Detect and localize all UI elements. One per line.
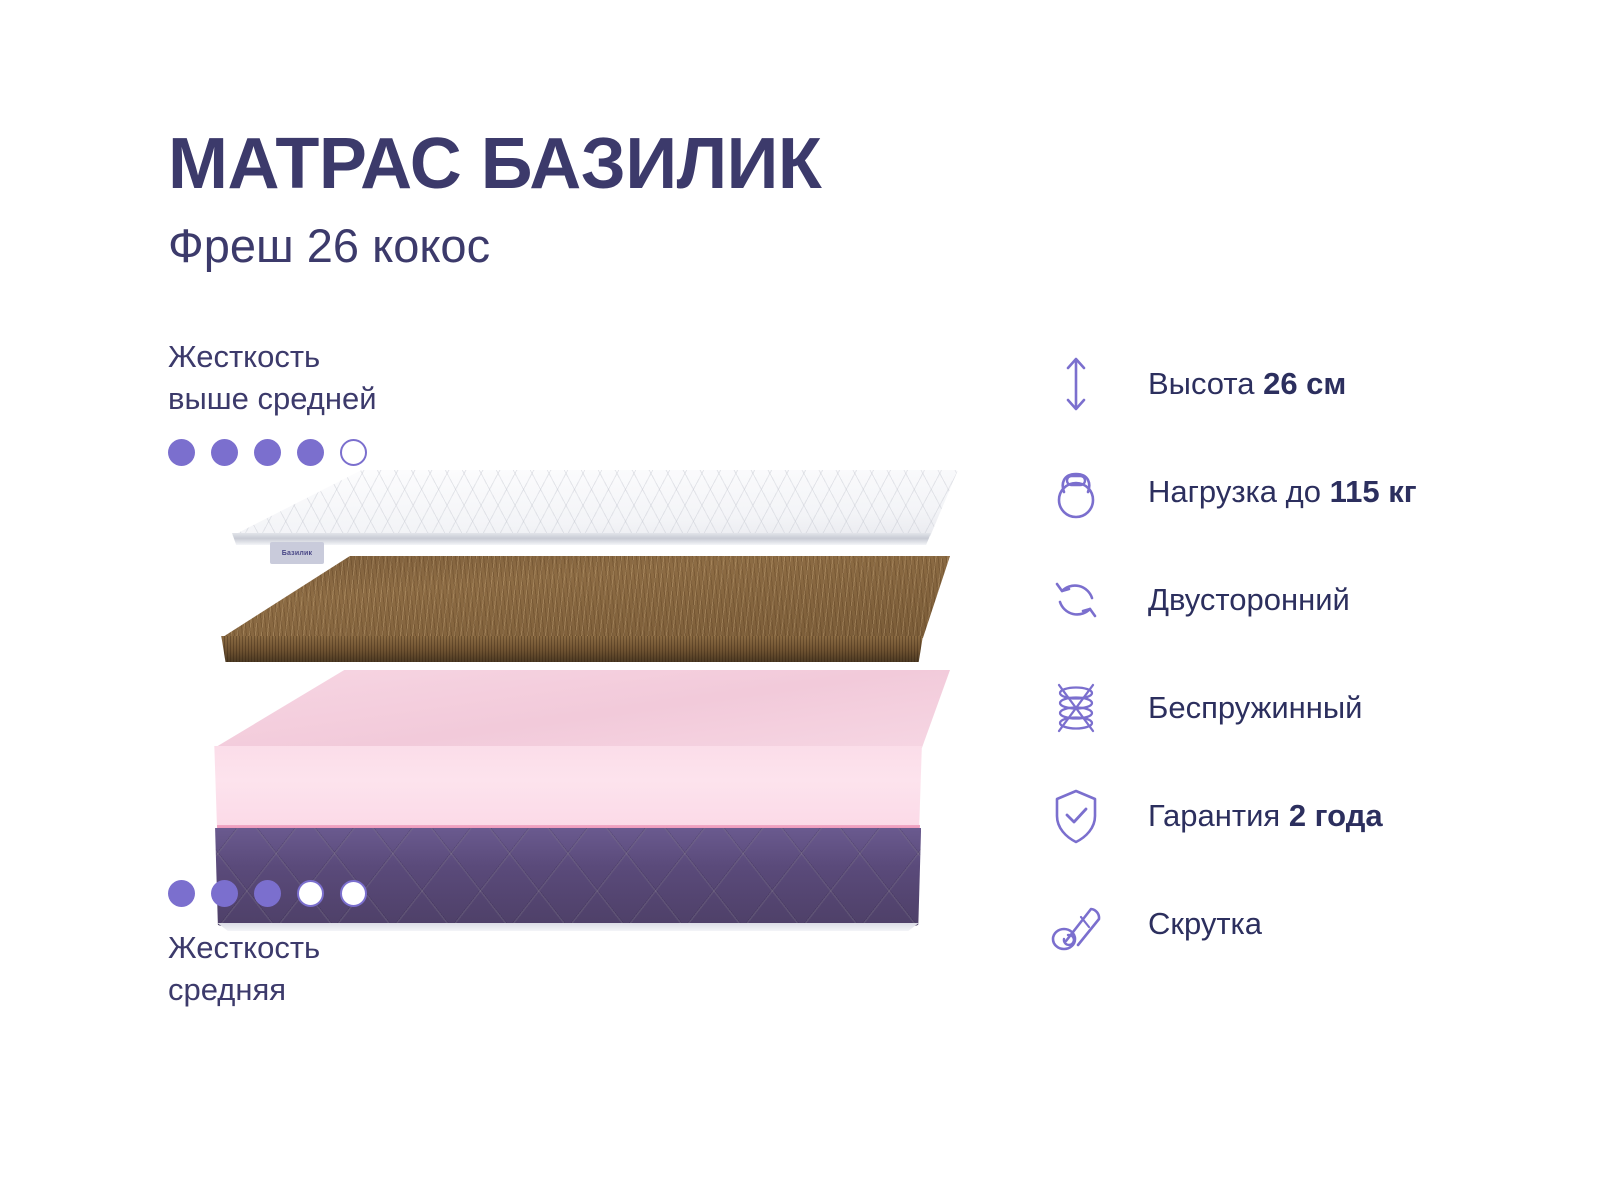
feature-label-load: Нагрузка до 115 кг [1148, 474, 1417, 510]
shield-check-icon [1040, 780, 1112, 852]
firmness-bottom-block: Жесткость средняя [168, 880, 588, 1012]
product-title: МАТРАС БАЗИЛИК [168, 128, 1068, 200]
cover-top-surface [208, 470, 958, 536]
firmness-dot-filled [168, 880, 195, 907]
firmness-dot-filled [254, 439, 281, 466]
firmness-dot-empty [340, 439, 367, 466]
firmness-dot-filled [211, 439, 238, 466]
coir-top-surface [198, 556, 950, 638]
feature-row-warranty: Гарантия 2 года [1040, 762, 1520, 870]
firmness-bottom-dots [168, 880, 588, 907]
height-arrow-icon [1040, 348, 1112, 420]
feature-label-height: Высота 26 см [1148, 366, 1346, 402]
feature-label-warranty: Гарантия 2 года [1148, 798, 1383, 834]
feature-row-roll-up: Скрутка [1040, 870, 1520, 978]
crossed-spring-icon [1040, 672, 1112, 744]
product-title-block: МАТРАС БАЗИЛИК Фреш 26 кокос [168, 128, 1068, 269]
infographic-page: МАТРАС БАЗИЛИК Фреш 26 кокос Жесткость в… [0, 0, 1600, 1200]
coir-side-edge [221, 636, 923, 662]
feature-row-load: Нагрузка до 115 кг [1040, 438, 1520, 546]
kettlebell-icon [1040, 456, 1112, 528]
foam-core-layer [190, 670, 950, 842]
feature-label-double-sided: Двусторонний [1148, 582, 1350, 618]
foam-top-surface [190, 670, 950, 748]
cover-side-edge [232, 533, 931, 545]
firmness-dot-filled [168, 439, 195, 466]
coconut-coir-layer [198, 556, 950, 666]
feature-row-springless: Беспружинный [1040, 654, 1520, 762]
firmness-dot-empty [297, 880, 324, 907]
firmness-bottom-label: Жесткость средняя [168, 927, 588, 1012]
feature-label-roll-up: Скрутка [1148, 906, 1262, 942]
rolled-mattress-icon [1040, 888, 1112, 960]
foam-front-face [214, 746, 922, 832]
product-subtitle: Фреш 26 кокос [168, 222, 1068, 269]
feature-list: Высота 26 см Нагрузка до 115 кг [1040, 330, 1520, 978]
feature-row-height: Высота 26 см [1040, 330, 1520, 438]
firmness-dot-filled [297, 439, 324, 466]
firmness-top-dots [168, 439, 588, 466]
firmness-dot-filled [211, 880, 238, 907]
feature-label-springless: Беспружинный [1148, 690, 1363, 726]
mattress-cutaway-illustration: Базилик [190, 470, 980, 890]
firmness-dot-empty [340, 880, 367, 907]
rotate-arrows-icon [1040, 564, 1112, 636]
quilted-cover-layer: Базилик [208, 470, 958, 550]
feature-row-double-sided: Двусторонний [1040, 546, 1520, 654]
firmness-dot-filled [254, 880, 281, 907]
firmness-top-block: Жесткость выше средней [168, 336, 588, 466]
firmness-top-label: Жесткость выше средней [168, 336, 588, 421]
